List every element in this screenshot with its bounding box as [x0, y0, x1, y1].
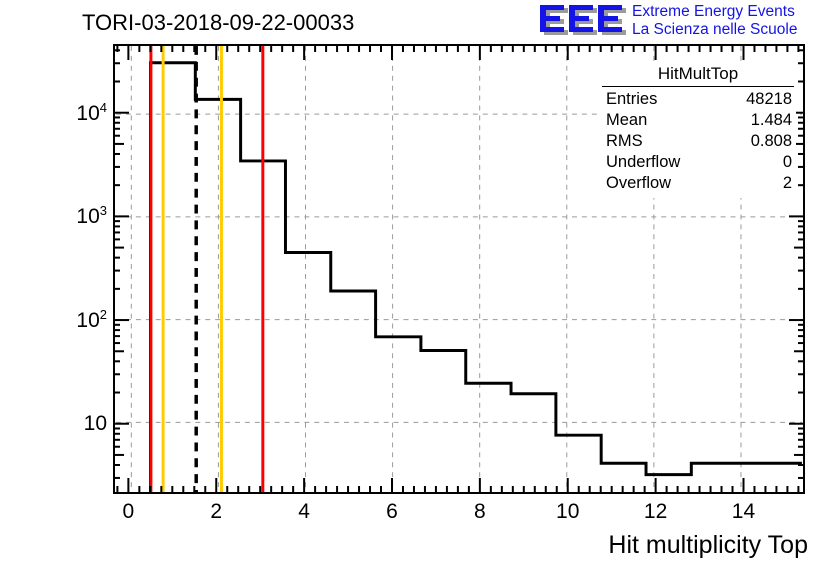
stats-row-value: 0.808 [751, 131, 792, 152]
x-tick-label: 4 [298, 500, 310, 524]
stats-row-key: Mean [606, 110, 647, 131]
x-tick-label: 0 [123, 500, 135, 524]
stats-row: Underflow 0 [600, 152, 796, 173]
stats-row-value: 2 [783, 173, 792, 194]
stats-row: Mean 1.484 [600, 110, 796, 131]
stats-row-value: 1.484 [751, 110, 792, 131]
stats-row-key: RMS [606, 131, 643, 152]
stats-box: HitMultTop Entries 48218 Mean 1.484 RMS … [600, 63, 796, 198]
eee-logo-svg [537, 3, 627, 39]
y-tick-label: 104 [51, 100, 107, 126]
y-tick-label: 10 [51, 412, 107, 436]
eee-logo-mark [537, 3, 627, 39]
stats-row: Entries 48218 [600, 89, 796, 110]
stats-row: RMS 0.808 [600, 131, 796, 152]
x-axis-title: Hit multiplicity Top [608, 531, 808, 560]
eee-tagline-2: La Scienza nelle Scuole [632, 21, 797, 39]
stats-row-key: Entries [606, 89, 657, 110]
x-tick-label: 6 [386, 500, 398, 524]
page-title: TORI-03-2018-09-22-00033 [82, 10, 354, 36]
y-tick-label: 103 [51, 203, 107, 229]
stats-row-key: Underflow [606, 152, 680, 173]
stats-row-value: 0 [783, 152, 792, 173]
x-tick-label: 2 [210, 500, 222, 524]
x-tick-label: 10 [556, 500, 579, 524]
x-tick-label: 14 [732, 500, 755, 524]
plot-canvas: TORI-03-2018-09-22-00033 [0, 0, 836, 572]
eee-tagline-1: Extreme Energy Events [632, 3, 795, 21]
eee-logo-text: Extreme Energy Events La Scienza nelle S… [632, 3, 832, 41]
stats-row-key: Overflow [606, 173, 671, 194]
stats-rows: Entries 48218 Mean 1.484 RMS 0.808 Under… [600, 89, 796, 194]
eee-logo: Extreme Energy Events La Scienza nelle S… [537, 2, 833, 42]
x-tick-label: 8 [474, 500, 486, 524]
stats-row: Overflow 2 [600, 173, 796, 194]
y-tick-label: 102 [51, 307, 107, 333]
stats-title: HitMultTop [600, 63, 796, 85]
stats-divider [602, 86, 794, 87]
stats-row-value: 48218 [746, 89, 792, 110]
x-tick-label: 12 [644, 500, 667, 524]
